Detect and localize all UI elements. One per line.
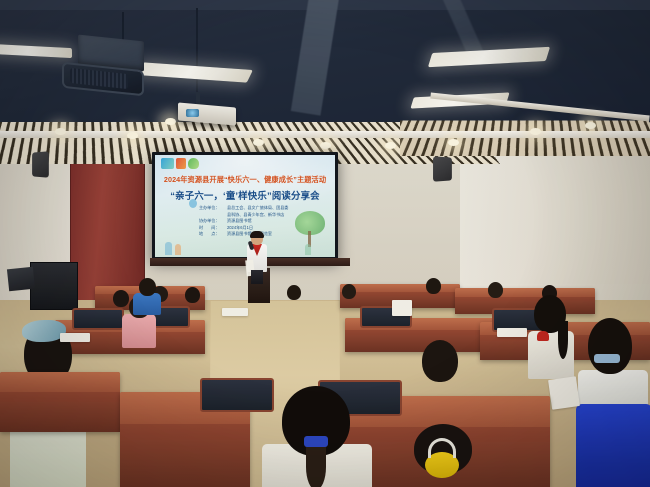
child-head [488, 282, 503, 298]
balloon-icon [189, 199, 197, 208]
desk-surface [0, 372, 120, 392]
av-equipment-rack [30, 262, 78, 310]
desk-surface [455, 288, 595, 297]
desk-row-front [0, 372, 120, 432]
downlight [127, 132, 138, 139]
child-head [422, 340, 458, 382]
ponytail [306, 444, 326, 487]
downlight [55, 128, 66, 135]
blue-tutu-skirt [576, 404, 650, 487]
desk-paper [392, 300, 412, 316]
child-illustration [165, 242, 172, 255]
soffit-edge [0, 131, 650, 138]
logo-mark-blue-icon [161, 158, 174, 169]
child-head [342, 284, 356, 299]
audience-child-braid [528, 295, 574, 375]
ceiling-beam [291, 0, 339, 116]
child-illustration [175, 244, 181, 255]
slide-detail-value: 资源县图书馆 [227, 218, 252, 223]
wooden-slat-ceiling-right [400, 121, 650, 156]
child-head [185, 287, 200, 303]
desk-paper [497, 328, 527, 337]
bag-handle [428, 438, 456, 458]
desk-paper [222, 308, 248, 316]
logo-mark-red-icon [176, 158, 186, 169]
child-head [588, 318, 632, 374]
ceiling-wire [196, 8, 198, 103]
projector-lens [186, 109, 199, 117]
av-equipment-monitor [7, 267, 35, 292]
hair-tie [304, 436, 328, 447]
audience-child-blue-shirt [133, 278, 161, 312]
child-head [426, 278, 441, 294]
child-illustration [305, 244, 311, 255]
downlight [253, 139, 264, 146]
handwritten-paper [548, 376, 580, 410]
student-presenter [243, 232, 271, 282]
braid [558, 321, 568, 359]
slide-detail-value: 县总工会、县文广旅体局、团县委 [227, 205, 288, 210]
slide-detail-label: 地 点： [199, 231, 227, 238]
downlight [165, 118, 176, 125]
child-head [287, 285, 301, 300]
logo-mark-green-icon [188, 158, 199, 169]
red-neckerchief [537, 331, 549, 341]
child-torso [133, 293, 161, 315]
audience-adult-ponytail [262, 386, 372, 487]
desk-front [0, 402, 120, 432]
downlight [585, 122, 596, 129]
ceiling-wire [122, 12, 124, 42]
hair-tie [594, 354, 620, 363]
slide-detail-label: 协办单位： [199, 218, 227, 225]
audience-child [285, 285, 303, 307]
slide-detail-value: 2024年6月1日 [227, 225, 253, 230]
audience-child [340, 284, 358, 306]
desk-paper [60, 333, 90, 342]
child-torso [122, 314, 156, 348]
slide-detail-label: 主办单位： [199, 205, 227, 212]
presenter-hair [250, 231, 264, 238]
slide-title-primary: 2024年资源县开展“快乐六一、健康成长”主题活动 [155, 175, 335, 185]
classroom-scene: 2024年资源县开展“快乐六一、健康成长”主题活动 “亲子六一，‘童’样快乐”阅… [0, 0, 650, 487]
audience-child [424, 278, 444, 302]
wall-speaker [433, 156, 452, 181]
audience-child-blue-tutu [578, 318, 650, 487]
slide-logo [161, 158, 199, 169]
wall-speaker [32, 151, 49, 177]
downlight [530, 128, 541, 135]
child-head [139, 278, 156, 296]
presenter-legs [251, 270, 263, 284]
downlight [448, 139, 459, 146]
audience-child [486, 282, 506, 306]
slide-title-secondary: “亲子六一，‘童’样快乐”阅读分享会 [155, 188, 335, 202]
downlight [320, 142, 331, 149]
audience-child-glasses [418, 340, 462, 400]
slide-detail-value: 县科协、县青少年宫、新华书店 [227, 212, 284, 217]
downlight [385, 142, 396, 149]
desk-front [120, 440, 250, 487]
